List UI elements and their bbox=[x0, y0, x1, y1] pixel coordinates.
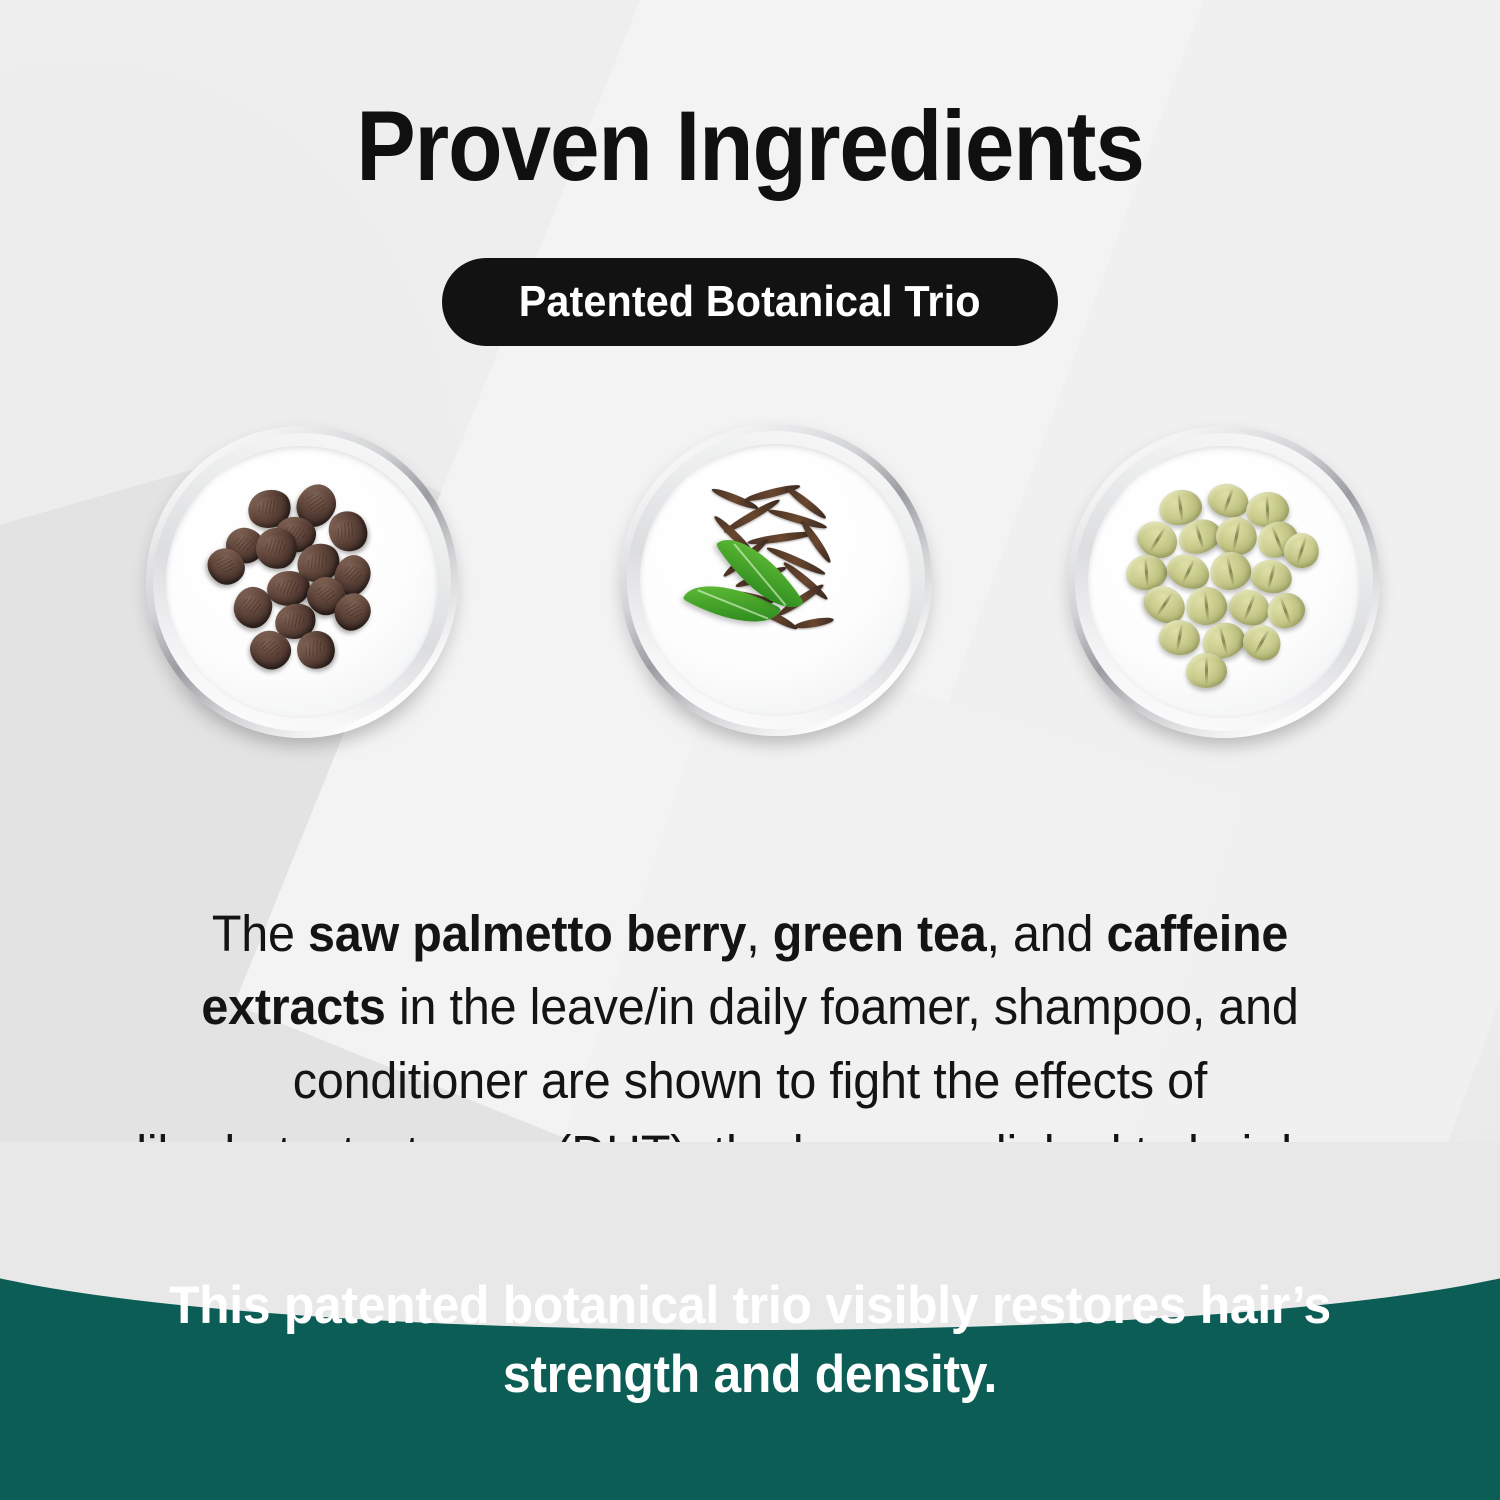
page-title: Proven Ingredients bbox=[75, 96, 1425, 195]
dish-inner-well bbox=[166, 446, 437, 717]
saw-palmetto-berry-cluster bbox=[166, 446, 437, 717]
body-bold-saw-palmetto: saw palmetto berry bbox=[308, 905, 746, 962]
ingredient-dish-green-tea bbox=[620, 424, 932, 736]
dish-inner-well bbox=[1088, 446, 1359, 717]
footer-banner: This patented botanical trio visibly res… bbox=[0, 1228, 1500, 1500]
badge-row: Patented Botanical Trio bbox=[0, 258, 1500, 346]
footer-claim-text: This patented botanical trio visibly res… bbox=[130, 1272, 1371, 1410]
green-coffee-bean-cluster bbox=[1088, 446, 1359, 717]
dried-tea-leaf-pile bbox=[700, 482, 868, 645]
coffee-bean-item bbox=[1157, 618, 1201, 657]
body-bold-green-tea: green tea bbox=[773, 905, 987, 962]
body-text-part-2: , bbox=[746, 905, 773, 962]
ingredient-dish-saw-palmetto-berry bbox=[146, 426, 458, 738]
body-text-part-1: The bbox=[212, 905, 308, 962]
patented-botanical-trio-badge: Patented Botanical Trio bbox=[442, 258, 1058, 346]
dish-inner-well bbox=[640, 444, 911, 715]
coffee-bean-item bbox=[1204, 479, 1252, 522]
badge-label: Patented Botanical Trio bbox=[519, 277, 981, 327]
infographic-canvas: Proven Ingredients Patented Botanical Tr… bbox=[0, 0, 1500, 1500]
body-text-part-3: , and bbox=[986, 905, 1106, 962]
tea-strand bbox=[794, 616, 835, 631]
ingredient-dish-caffeine-green-coffee bbox=[1068, 426, 1380, 738]
ingredient-dish-row bbox=[0, 424, 1500, 754]
green-tea-contents bbox=[640, 444, 911, 715]
